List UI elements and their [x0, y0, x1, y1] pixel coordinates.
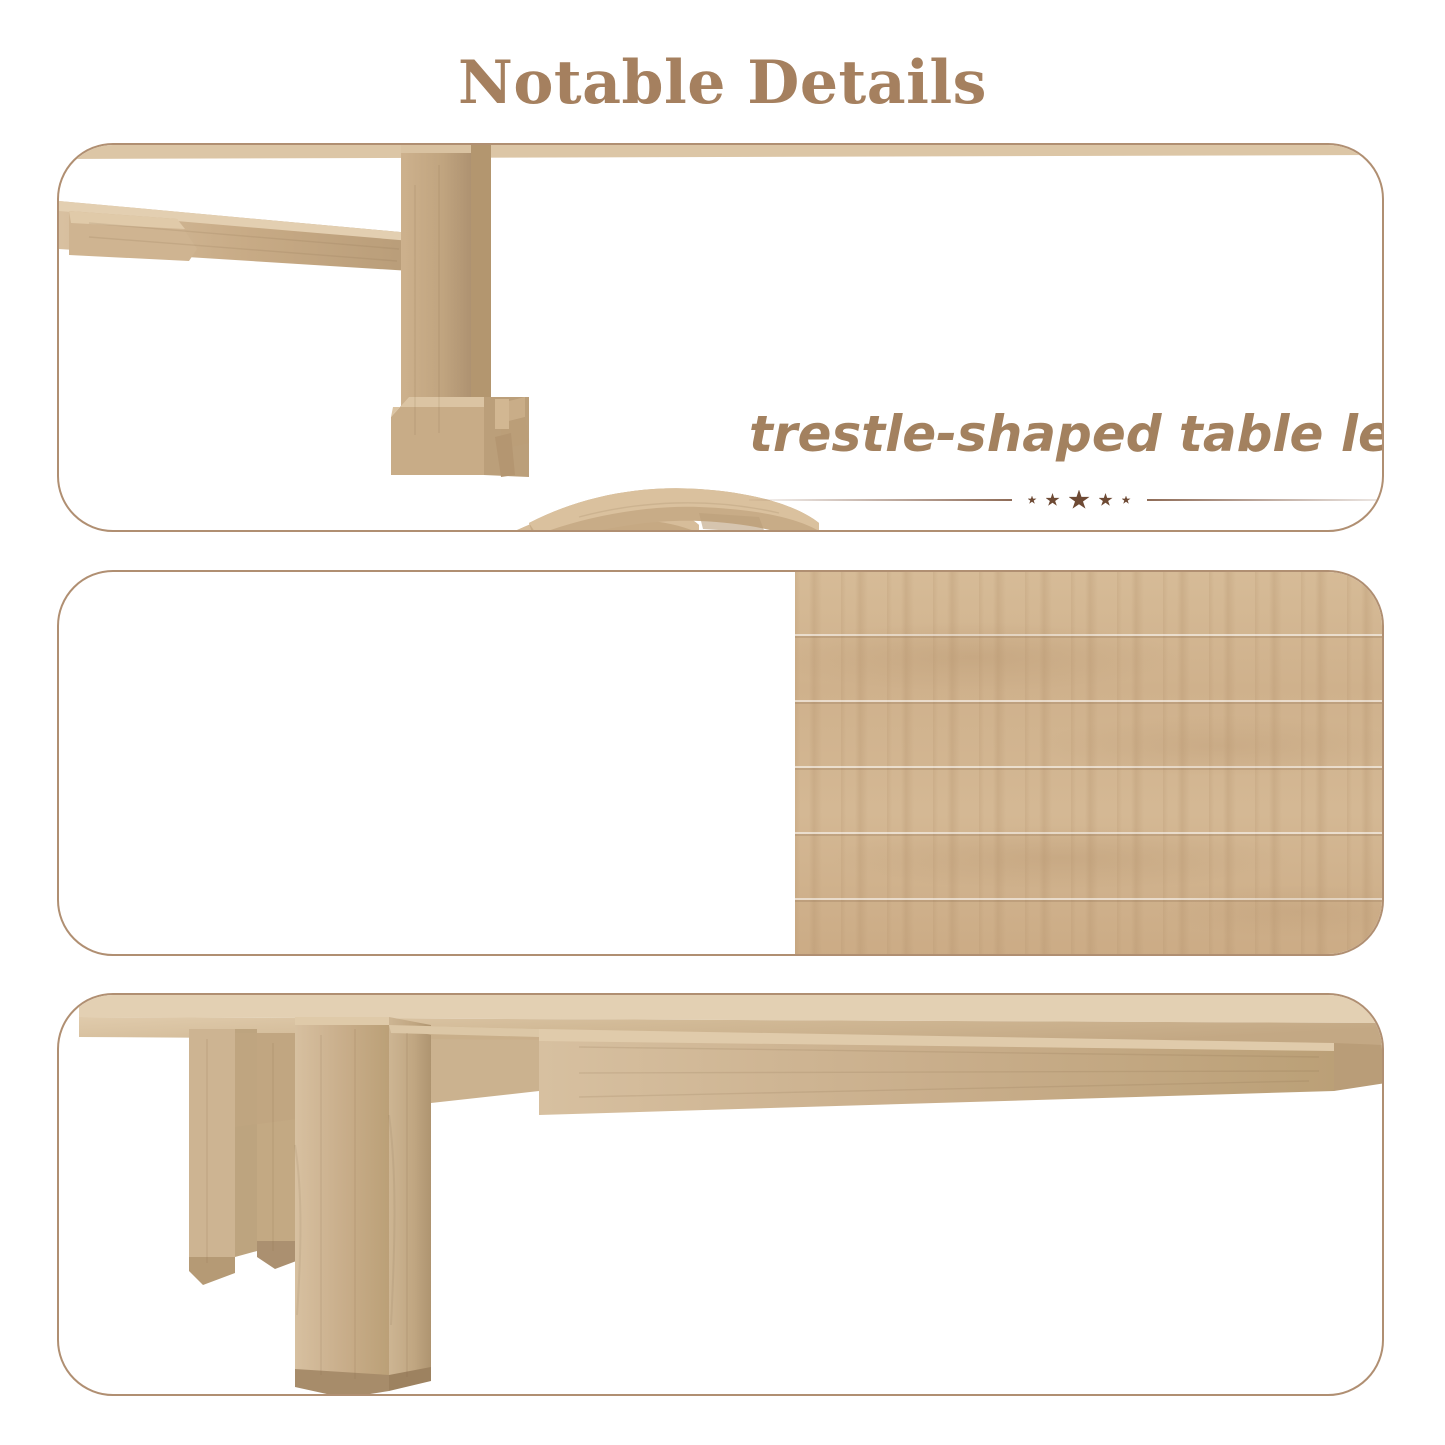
infographic-page: Notable Details [0, 0, 1445, 1445]
star-icon [1122, 496, 1131, 505]
star-icon [1069, 490, 1090, 511]
wood-plank-panel [795, 572, 1384, 956]
divider-rule-right [1147, 499, 1385, 501]
wood-grain-photo [59, 572, 1382, 954]
caption-block-trestle-legs: trestle-shaped table legs [749, 407, 1384, 513]
detail-card-wood-grain: wood's natural grain [57, 570, 1384, 956]
divider-rule-left [749, 499, 1012, 501]
detail-card-bench-legs: L-shaped bench legs [57, 993, 1384, 1396]
caption-text: trestle-shaped table legs [749, 407, 1384, 461]
star-icon [1028, 496, 1037, 505]
star-icon [1099, 493, 1113, 507]
divider-stars [1012, 490, 1147, 511]
page-title: Notable Details [0, 48, 1445, 118]
star-icon [1046, 493, 1060, 507]
star-divider [749, 487, 1384, 513]
bench-legs-photo [59, 995, 1382, 1394]
detail-card-trestle-legs: trestle-shaped table legs [57, 143, 1384, 532]
